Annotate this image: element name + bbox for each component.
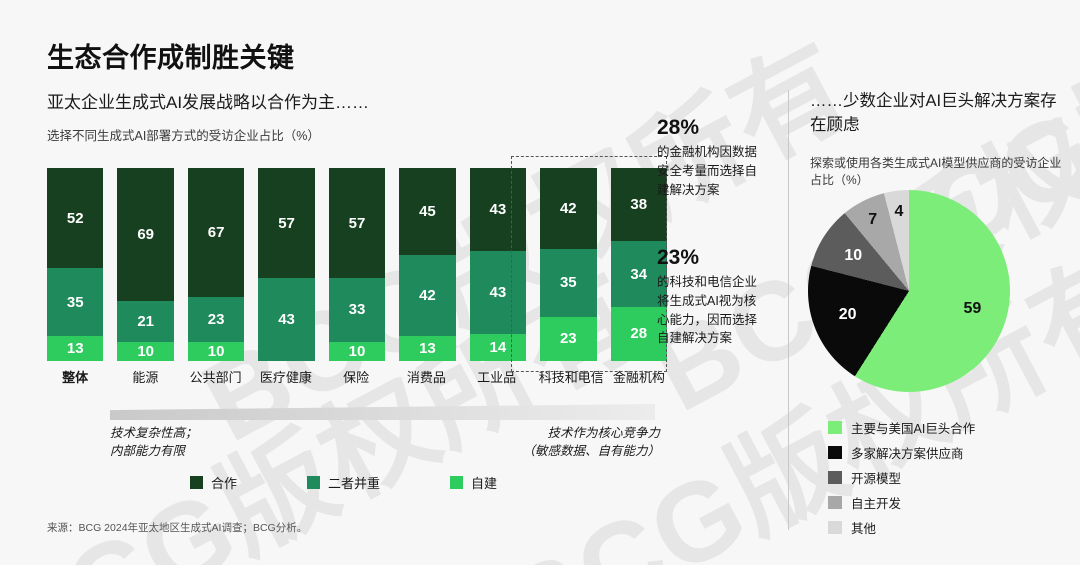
bar-column: 523513 bbox=[47, 168, 103, 361]
bar-category-label: 能源 bbox=[117, 367, 173, 386]
bar-segment: 69 bbox=[117, 168, 173, 301]
right-panel-title: ……少数企业对AI巨头解决方案存在顾虑 bbox=[810, 90, 1060, 138]
bar-segment: 23 bbox=[188, 297, 244, 341]
bar-column: 692110 bbox=[117, 168, 173, 361]
bar-segment: 10 bbox=[117, 342, 173, 361]
pie-legend-label: 多家解决方案供应商 bbox=[851, 443, 964, 462]
bar-segment: 57 bbox=[329, 168, 385, 278]
pie-slice-value: 10 bbox=[844, 247, 862, 265]
bar-category-label: 公共部门 bbox=[188, 367, 244, 386]
chart-subtitle: 亚太企业生成式AI发展战略以合作为主…… bbox=[47, 88, 369, 113]
pie-legend-label: 自主开发 bbox=[851, 493, 901, 512]
pie-slice-value: 7 bbox=[868, 211, 877, 229]
highlight-dashed-box bbox=[511, 156, 667, 372]
pie-legend-item[interactable]: 多家解决方案供应商 bbox=[828, 443, 975, 462]
bar-column: 672310 bbox=[188, 168, 244, 361]
legend-label: 二者并重 bbox=[328, 473, 380, 492]
bar-segment: 21 bbox=[117, 301, 173, 342]
callout-23-text: 的科技和电信企业将生成式AI视为核心能力，因而选择自建解决方案 bbox=[657, 273, 767, 348]
pie-legend-label: 开源模型 bbox=[851, 468, 901, 487]
bar-column: 573310 bbox=[329, 168, 385, 361]
wedge-note-right-line1: 技术作为核心竞争力 bbox=[470, 424, 660, 442]
right-panel: ……少数企业对AI巨头解决方案存在顾虑 探索或使用各类生成式AI模型供应商的受访… bbox=[788, 0, 1080, 565]
callout-23-pct: 23% bbox=[657, 246, 767, 270]
pie-legend-label: 其他 bbox=[851, 518, 876, 537]
bar-segment: 10 bbox=[329, 342, 385, 361]
bar-segment: 42 bbox=[399, 255, 455, 336]
page-title: 生态合作成制胜关键 bbox=[47, 36, 295, 75]
legend-item[interactable]: 自建 bbox=[450, 473, 497, 492]
bar-chart-legend: 合作二者并重自建 bbox=[190, 473, 497, 492]
callout-28: 28% 的金融机构因数据安全考量而选择自建解决方案 bbox=[657, 116, 767, 199]
bar-segment: 33 bbox=[329, 278, 385, 342]
legend-item[interactable]: 合作 bbox=[190, 473, 237, 492]
pie-legend-swatch-icon bbox=[828, 496, 842, 509]
bar-segment: 67 bbox=[188, 168, 244, 297]
pie-legend-item[interactable]: 开源模型 bbox=[828, 468, 975, 487]
pie-legend-swatch-icon bbox=[828, 446, 842, 459]
bar-segment: 35 bbox=[47, 268, 103, 336]
complexity-gradient-wedge bbox=[110, 404, 655, 420]
bar-segment: 45 bbox=[399, 168, 455, 255]
pie-chart: 59201074 bbox=[808, 190, 1010, 392]
slide-root: BCG版权所有 BCG版权所有 BCG版权所有 BCG版权所有 BCG版权所有 … bbox=[0, 0, 1080, 565]
bar-category-label: 整体 bbox=[47, 367, 103, 386]
legend-item[interactable]: 二者并重 bbox=[307, 473, 380, 492]
bar-category-label: 保险 bbox=[328, 367, 384, 386]
callout-28-text: 的金融机构因数据安全考量而选择自建解决方案 bbox=[657, 143, 767, 199]
legend-label: 合作 bbox=[211, 473, 237, 492]
bar-segment: 13 bbox=[47, 336, 103, 361]
pie-legend-swatch-icon bbox=[828, 421, 842, 434]
wedge-note-right: 技术作为核心竞争力 （敏感数据、自有能力） bbox=[470, 424, 660, 460]
bar-segment: 13 bbox=[399, 336, 455, 361]
bar-column: 454213 bbox=[399, 168, 455, 361]
bar-segment: 10 bbox=[188, 342, 244, 361]
wedge-note-right-line2: （敏感数据、自有能力） bbox=[470, 442, 660, 460]
legend-swatch-icon bbox=[190, 476, 203, 489]
pie-chart-legend: 主要与美国AI巨头合作多家解决方案供应商开源模型自主开发其他 bbox=[828, 418, 975, 543]
wedge-note-left-line1: 技术复杂性高； bbox=[110, 424, 198, 442]
legend-swatch-icon bbox=[450, 476, 463, 489]
pie-legend-label: 主要与美国AI巨头合作 bbox=[851, 418, 975, 437]
pie-legend-swatch-icon bbox=[828, 471, 842, 484]
pie-slice-value: 59 bbox=[963, 300, 981, 318]
pie-slice-value: 20 bbox=[839, 306, 857, 324]
legend-swatch-icon bbox=[307, 476, 320, 489]
callout-28-pct: 28% bbox=[657, 116, 767, 140]
bar-segment: 43 bbox=[258, 278, 314, 361]
bar-segment: 52 bbox=[47, 168, 103, 268]
bar-category-label: 消费品 bbox=[398, 367, 454, 386]
bar-column: 5743 bbox=[258, 168, 314, 361]
bar-category-label: 医疗健康 bbox=[258, 367, 314, 386]
source-note: 来源：BCG 2024年亚太地区生成式AI调查；BCG分析。 bbox=[47, 520, 307, 535]
wedge-note-left-line2: 内部能力有限 bbox=[110, 442, 198, 460]
pie-legend-swatch-icon bbox=[828, 521, 842, 534]
pie-circle bbox=[808, 190, 1010, 392]
pie-legend-item[interactable]: 其他 bbox=[828, 518, 975, 537]
chart-axis-note: 选择不同生成式AI部署方式的受访企业占比（%） bbox=[47, 125, 320, 144]
pie-legend-item[interactable]: 主要与美国AI巨头合作 bbox=[828, 418, 975, 437]
wedge-note-left: 技术复杂性高； 内部能力有限 bbox=[110, 424, 198, 460]
right-panel-note: 探索或使用各类生成式AI模型供应商的受访企业占比（%） bbox=[810, 155, 1068, 190]
callout-23: 23% 的科技和电信企业将生成式AI视为核心能力，因而选择自建解决方案 bbox=[657, 246, 767, 348]
bar-segment: 57 bbox=[258, 168, 314, 278]
legend-label: 自建 bbox=[471, 473, 497, 492]
pie-legend-item[interactable]: 自主开发 bbox=[828, 493, 975, 512]
pie-slice-value: 4 bbox=[895, 203, 904, 221]
